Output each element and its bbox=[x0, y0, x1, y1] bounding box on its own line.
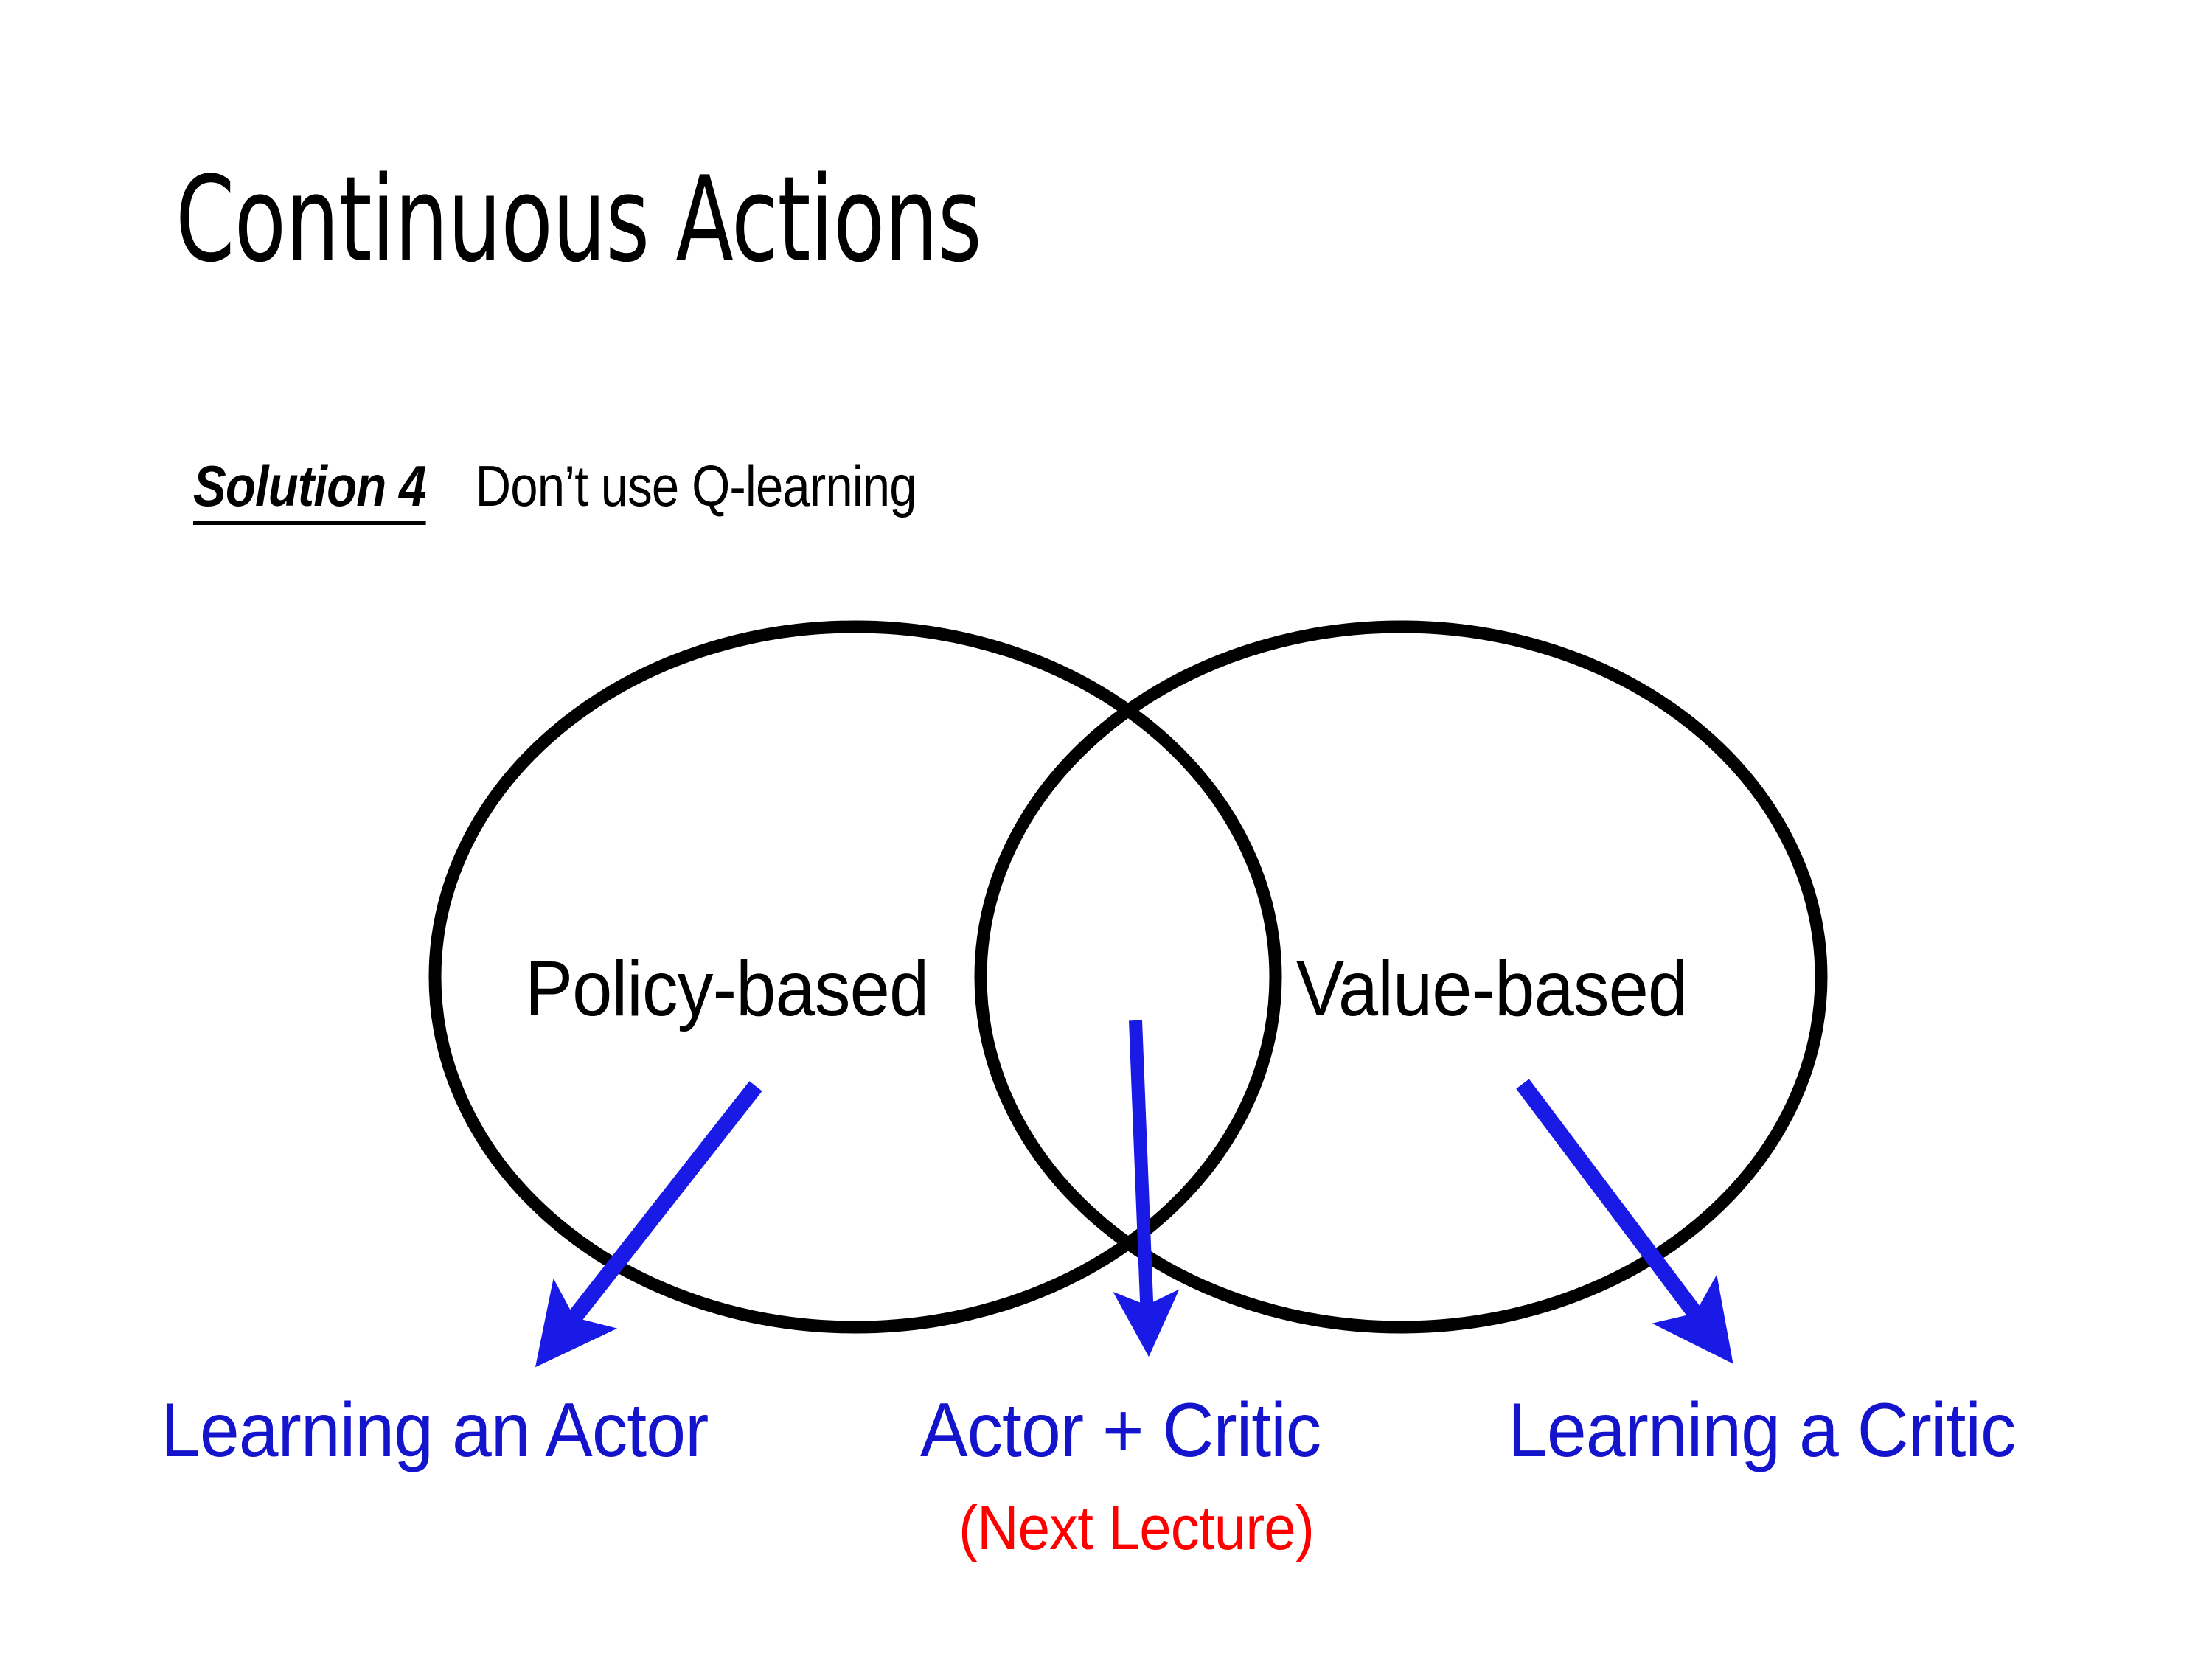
solution-line: Solution 4Don’t use Q-learning bbox=[193, 457, 917, 525]
page-title: Continuous Actions bbox=[175, 161, 981, 279]
solution-label: Solution 4 bbox=[193, 457, 426, 525]
slide-canvas: Continuous Actions Solution 4Don’t use Q… bbox=[0, 0, 2212, 1659]
callout-learning-an-actor: Learning an Actor bbox=[161, 1392, 708, 1469]
arrow-to-actor bbox=[549, 1086, 756, 1349]
callout-actor-plus-critic: Actor + Critic bbox=[920, 1392, 1321, 1469]
arrow-to-critic bbox=[1523, 1084, 1719, 1346]
policy-based-label: Policy-based bbox=[525, 950, 928, 1028]
callout-next-lecture-note: (Next Lecture) bbox=[959, 1497, 1314, 1559]
solution-description: Don’t use Q-learning bbox=[476, 457, 917, 515]
arrow-to-actor-critic bbox=[1135, 1020, 1148, 1338]
callout-learning-a-critic: Learning a Critic bbox=[1508, 1392, 2015, 1469]
value-based-label: Value-based bbox=[1296, 950, 1687, 1028]
